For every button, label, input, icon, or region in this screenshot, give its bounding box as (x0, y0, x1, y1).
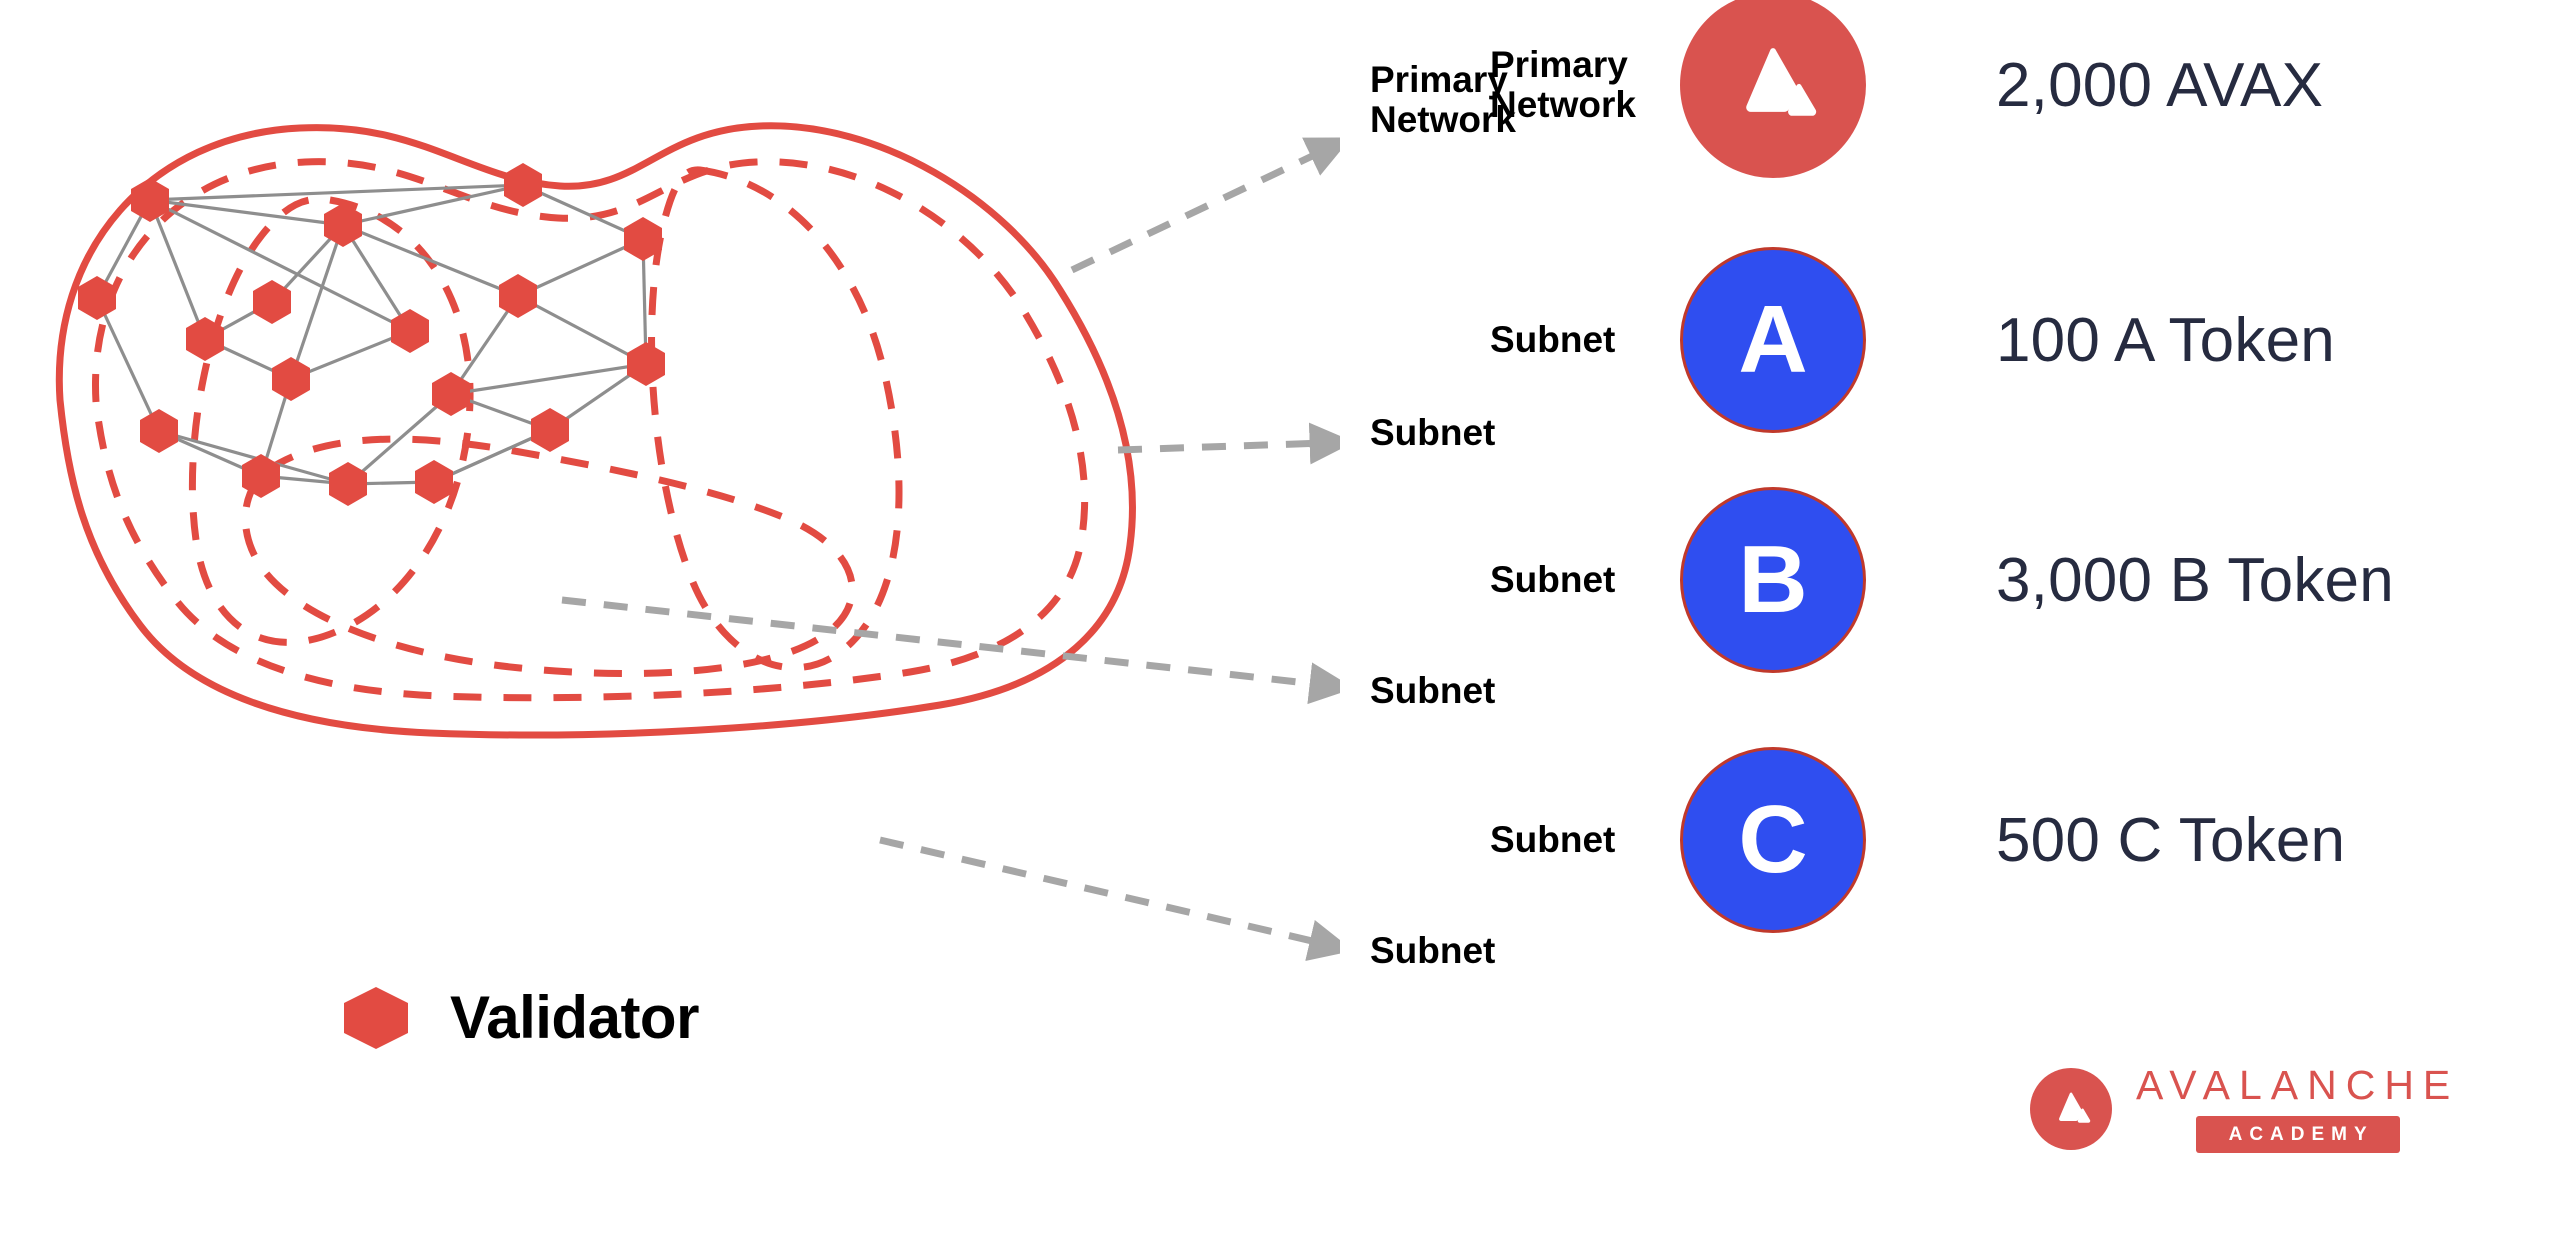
callout-subnet-a: Subnet (1370, 412, 1495, 454)
callout-primary-network: Primary Network (1370, 60, 1516, 140)
amount-subnet-b: 3,000 B Token (1866, 545, 2394, 616)
subnet-c-boundary (652, 170, 899, 668)
avax-triangle-icon (1717, 29, 1829, 141)
row-subnet-b: Subnet B 3,000 B Token (1350, 505, 2558, 655)
amount-subnet-a: 100 A Token (1866, 305, 2335, 376)
callout-arrows (562, 150, 1325, 944)
primary-network-inner-boundary (95, 162, 1084, 698)
row-label-subnet-a: Subnet (1350, 320, 1680, 360)
arrow-subnet-b (562, 600, 1325, 685)
subnet-badge-a: A (1680, 247, 1866, 433)
avax-triangle-icon (2046, 1084, 2096, 1134)
row-label-line2: Network (1490, 85, 1680, 125)
validator-node (415, 460, 453, 504)
validator-node (627, 342, 665, 386)
row-subnet-c: Subnet C 500 C Token (1350, 765, 2558, 915)
validator-node (329, 462, 367, 506)
legend-label: Validator (450, 988, 699, 1048)
diagram-canvas: Validator Primary Network 2,000 AVAX Sub… (0, 0, 2558, 1258)
callout-line1: Primary (1370, 60, 1516, 100)
callout-line2: Network (1370, 100, 1516, 140)
validator-node (504, 163, 542, 207)
row-label-line1: Subnet (1490, 560, 1680, 600)
validator-node (499, 274, 537, 318)
callout-subnet-b: Subnet (1370, 670, 1495, 712)
row-subnet-a: Subnet A 100 A Token (1350, 265, 2558, 415)
row-label-subnet-c: Subnet (1350, 820, 1680, 860)
subnet-badge-c: C (1680, 747, 1866, 933)
row-label-line1: Primary (1490, 45, 1680, 85)
network-graph (0, 0, 1340, 1258)
callout-subnet-c: Subnet (1370, 930, 1495, 972)
arrow-subnet-a (1118, 443, 1325, 450)
row-label-line1: Subnet (1490, 820, 1680, 860)
validator-node (140, 409, 178, 453)
hexagon-icon (340, 985, 412, 1051)
avax-logo-icon (2030, 1068, 2112, 1150)
row-label-line1: Subnet (1490, 320, 1680, 360)
amount-subnet-c: 500 C Token (1866, 805, 2345, 876)
validator-node (272, 357, 310, 401)
validator-node (432, 372, 470, 416)
subnet-a-boundary (192, 199, 470, 642)
row-primary-network: Primary Network 2,000 AVAX (1350, 10, 2558, 160)
academy-wordmark: AVALANCHE ACADEMY (2136, 1065, 2459, 1153)
legend-rows: Primary Network 2,000 AVAX Subnet A 100 … (1350, 0, 2558, 1040)
validator-node (531, 408, 569, 452)
validator-node (78, 276, 116, 320)
subnet-badge-b: B (1680, 487, 1866, 673)
avax-logo-icon (1680, 0, 1866, 178)
amount-primary-network: 2,000 AVAX (1866, 50, 2323, 121)
avalanche-academy-logo: AVALANCHE ACADEMY (2030, 1065, 2459, 1153)
row-label-subnet-b: Subnet (1350, 560, 1680, 600)
arrow-primary-network (1072, 150, 1325, 270)
validator-node (391, 309, 429, 353)
academy-title: AVALANCHE (2136, 1065, 2459, 1106)
academy-subtitle: ACADEMY (2196, 1116, 2400, 1153)
arrow-subnet-c (880, 840, 1325, 944)
legend: Validator (340, 985, 699, 1051)
